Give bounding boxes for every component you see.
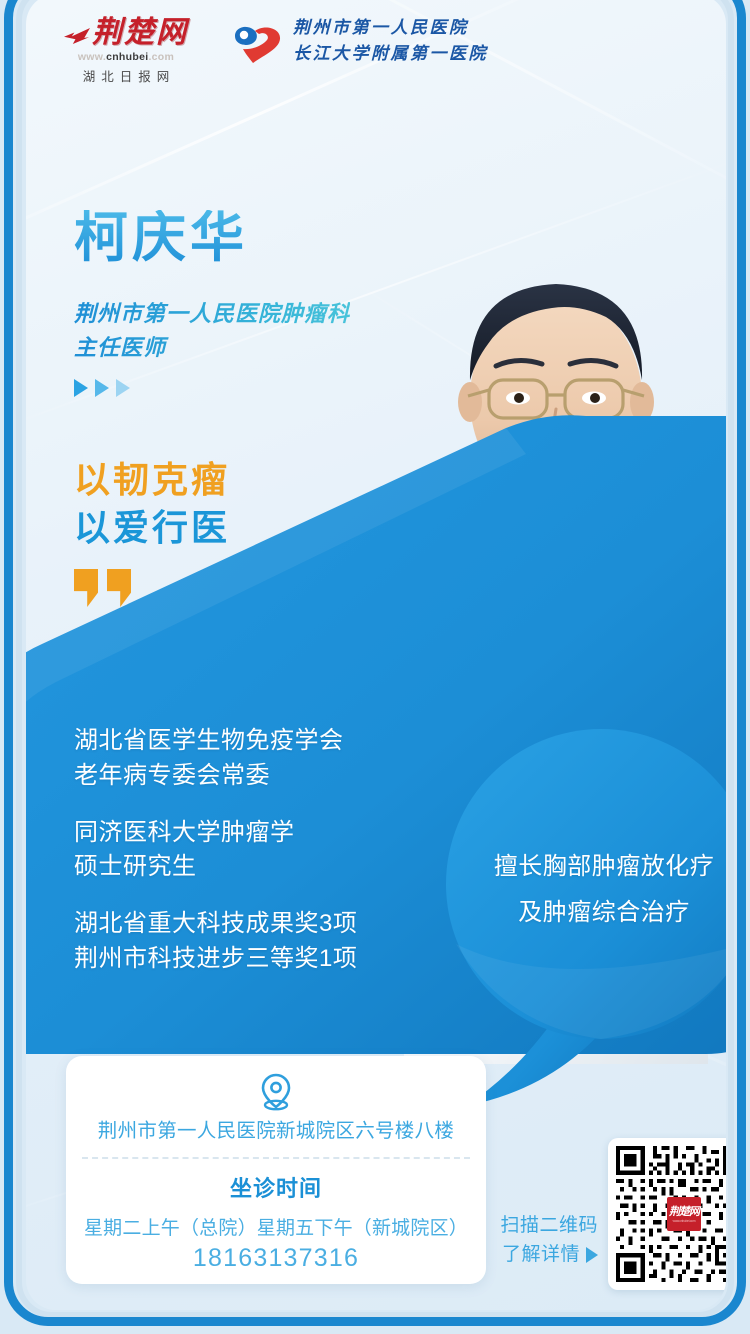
poster-header: 荆楚网 www.cnhubei.com 湖北日报网 荆州市第一人民医院 长江大学… (26, 8, 726, 98)
cnhubei-wing-logo-icon (64, 28, 90, 44)
list-item: 湖北省医学生物免疫学会 老年病专委会常委 (74, 724, 404, 794)
specialty-bubble: 擅长胸部肿瘤放化疗 及肿瘤综合治疗 (446, 694, 726, 1114)
specialty-line2: 及肿瘤综合治疗 (454, 890, 726, 936)
qr-block: 扫描二维码 了解详情 (466, 1134, 726, 1304)
cnhubei-logo-name: 荆楚网 (46, 18, 206, 48)
credentials-list: 湖北省医学生物免疫学会 老年病专委会常委 同济医科大学肿瘤学 硕士研究生 湖北省… (74, 724, 404, 977)
doctor-title-line2: 主任医师 (74, 331, 350, 365)
cnhubei-url: www.cnhubei.com (46, 51, 206, 63)
triangle-right-icon (586, 1247, 598, 1263)
credential-line: 硕士研究生 (74, 850, 404, 885)
triple-arrow-right-icon (74, 379, 350, 397)
slogan-block: 以韧克瘤 以爱行医 (74, 456, 230, 607)
credential-line: 湖北省重大科技成果奖3项 (74, 907, 404, 942)
poster-page: 荆楚网 www.cnhubei.com 湖北日报网 荆州市第一人民医院 长江大学… (26, 0, 726, 1310)
phone-number[interactable]: 18163137316 (66, 1244, 486, 1273)
doctor-profile-poster: 荆楚网 www.cnhubei.com 湖北日报网 荆州市第一人民医院 长江大学… (0, 0, 750, 1334)
card-divider (82, 1157, 470, 1159)
qr-center-logo-sub: www.cnhubei.com (673, 1219, 696, 1223)
cnhubei-url-prefix: www. (78, 51, 106, 63)
quote-mark-icon (74, 569, 230, 607)
page-title: 柯庆华 (74, 210, 350, 267)
hospital-logo: 荆州市第一人民医院 长江大学附属第一医院 (231, 14, 511, 76)
clinic-address: 荆州市第一人民医院新城院区六号楼八楼 (66, 1114, 486, 1143)
qr-caption: 扫描二维码 了解详情 (466, 1212, 598, 1269)
hospital-name-line1: 荆州市第一人民医院 (293, 16, 488, 42)
credential-line: 老年病专委会常委 (74, 759, 404, 794)
specialty-line1: 擅长胸部肿瘤放化疗 (454, 844, 726, 890)
list-item: 湖北省重大科技成果奖3项 荆州市科技进步三等奖1项 (74, 907, 404, 977)
credential-line: 荆州市科技进步三等奖1项 (74, 942, 404, 977)
cnhubei-url-suffix: .com (148, 51, 174, 63)
qr-center-logo-text: 荆楚网 (669, 1206, 699, 1217)
location-pin-icon (259, 1072, 293, 1112)
slogan-line2: 以爱行医 (74, 504, 230, 552)
qr-caption-line1: 扫描二维码 (466, 1212, 598, 1241)
hospital-name-line2: 长江大学附属第一医院 (293, 42, 488, 68)
cnhubei-url-main: cnhubei (106, 51, 148, 63)
schedule-detail: 星期二上午（总院）星期五下午（新城院区） (66, 1213, 486, 1240)
list-item: 同济医科大学肿瘤学 硕士研究生 (74, 816, 404, 886)
cnhubei-logo: 荆楚网 www.cnhubei.com 湖北日报网 (46, 18, 206, 85)
qr-code[interactable]: 荆楚网 www.cnhubei.com (608, 1138, 726, 1290)
qr-center-logo: 荆楚网 www.cnhubei.com (667, 1197, 701, 1231)
doctor-title-line1: 荆州市第一人民医院肿瘤科 (74, 297, 350, 331)
specialty-bubble-text: 擅长胸部肿瘤放化疗 及肿瘤综合治疗 (454, 844, 726, 935)
qr-caption-line2: 了解详情 (502, 1241, 580, 1270)
slogan-line1: 以韧克瘤 (74, 456, 230, 504)
doctor-title: 荆州市第一人民医院肿瘤科 主任医师 (74, 297, 350, 365)
hospital-name-text: 荆州市第一人民医院 长江大学附属第一医院 (293, 16, 488, 67)
credential-line: 湖北省医学生物免疫学会 (74, 724, 404, 759)
clinic-info-card: 荆州市第一人民医院新城院区六号楼八楼 坐诊时间 星期二上午（总院）星期五下午（新… (66, 1056, 486, 1284)
cnhubei-subtitle: 湖北日报网 (46, 66, 206, 85)
schedule-title: 坐诊时间 (66, 1171, 486, 1203)
credential-line: 同济医科大学肿瘤学 (74, 816, 404, 851)
doctor-name-block: 柯庆华 荆州市第一人民医院肿瘤科 主任医师 (74, 210, 350, 397)
hospital-heart-hand-logo-icon (231, 22, 283, 66)
